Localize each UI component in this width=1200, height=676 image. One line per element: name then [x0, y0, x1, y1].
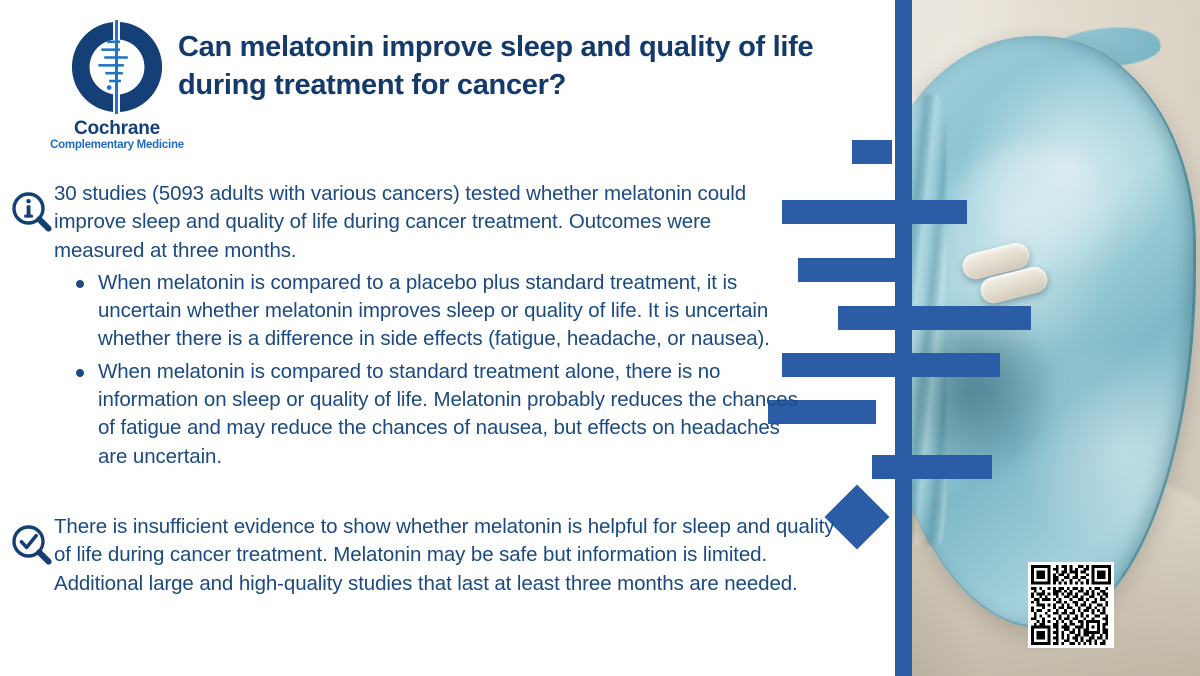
magnifier-info-icon: [10, 190, 54, 234]
logo-wordmark: Cochrane: [44, 118, 190, 140]
logo-group-name: Complementary Medicine: [44, 139, 190, 151]
cochrane-forest-plot-logo-icon: [68, 18, 166, 116]
content-column: Cochrane Complementary Medicine Can mela…: [0, 0, 900, 676]
magnifier-check-icon: [10, 523, 54, 567]
summary-body: 30 studies (5093 adults with various can…: [54, 180, 800, 475]
qr-code[interactable]: [1028, 562, 1114, 648]
list-item: When melatonin is compared to standard t…: [54, 358, 800, 471]
poster-canvas: Cochrane Complementary Medicine Can mela…: [0, 0, 1200, 676]
summary-bullet-list: When melatonin is compared to a placebo …: [54, 269, 800, 471]
page-title: Can melatonin improve sleep and quality …: [178, 28, 878, 105]
list-item: When melatonin is compared to a placebo …: [54, 269, 800, 354]
conclusion-body: There is insufficient evidence to show w…: [54, 513, 850, 598]
summary-section: 30 studies (5093 adults with various can…: [10, 180, 800, 475]
conclusion-section: There is insufficient evidence to show w…: [10, 513, 850, 598]
sleep-mask-with-capsules-photo: [900, 0, 1200, 676]
cochrane-logo: Cochrane Complementary Medicine: [44, 18, 190, 151]
conclusion-text: There is insufficient evidence to show w…: [54, 513, 850, 598]
summary-intro-text: 30 studies (5093 adults with various can…: [54, 180, 800, 265]
